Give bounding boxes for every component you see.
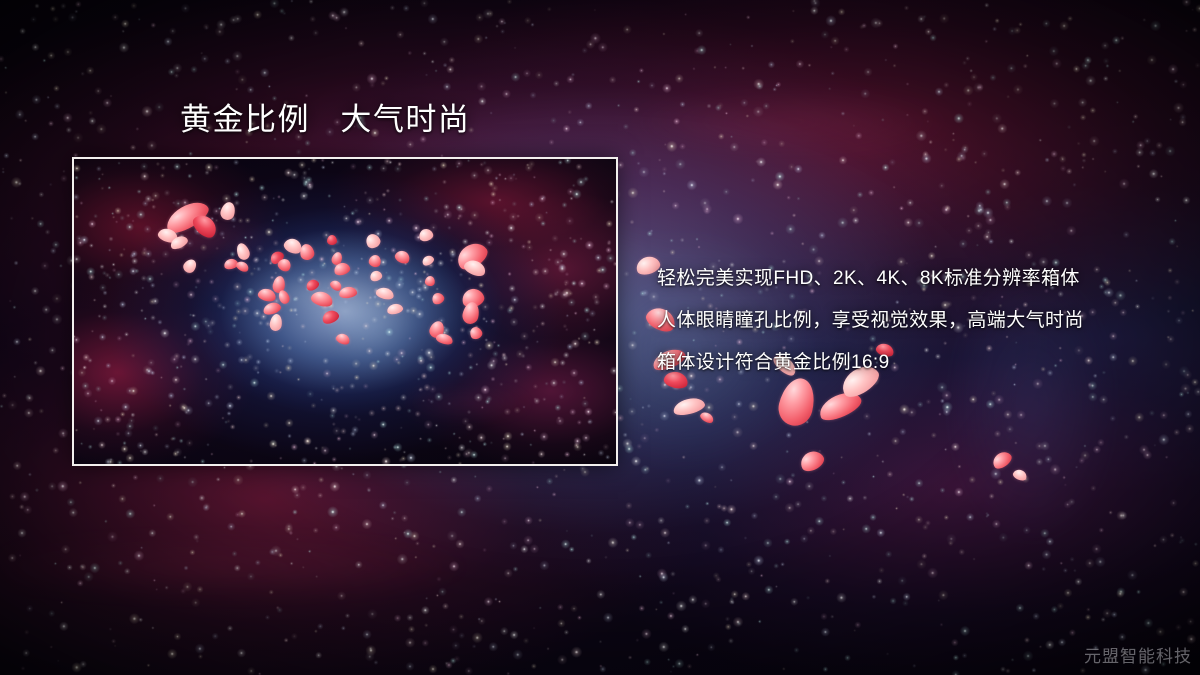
petal [375,286,395,301]
petal [235,259,251,273]
petal [219,200,237,221]
petal [815,387,864,425]
petal [672,395,707,417]
body-copy-line: 箱体设计符合黄金比例16:9 [657,342,1177,384]
petal [234,241,251,261]
body-copy-line: 人体眼睛瞳孔比例，享受视觉效果，高端大气时尚 [657,300,1177,342]
petal [298,243,315,262]
petal [417,227,434,243]
petal [430,291,446,306]
petal [327,235,337,245]
body-copy: 轻松完美实现FHD、2K、4K、8K标准分辨率箱体 人体眼睛瞳孔比例，享受视觉效… [657,258,1177,384]
petal [386,302,404,315]
petal [309,289,334,309]
watermark: 元盟智能科技 [1084,642,1192,667]
slide-title: 黄金比例 大气时尚 [180,101,470,138]
petal [364,232,383,251]
photo-petals [74,159,616,464]
petal [424,275,436,287]
petal [269,313,283,332]
petal [320,308,340,326]
petal [369,269,384,283]
petal [699,410,716,425]
photo-frame [72,157,618,466]
petal [435,332,454,346]
petal [468,325,484,341]
petal [990,448,1014,471]
petal [367,253,382,268]
petal [277,289,292,306]
petal [1012,468,1029,483]
petal [797,447,827,474]
body-copy-line: 轻松完美实现FHD、2K、4K、8K标准分辨率箱体 [657,258,1177,300]
petal [393,248,412,265]
presentation-slide: 黄金比例 大气时尚 轻松完美实现FHD、2K、4K、8K标准分辨率箱体 人体眼睛… [0,0,1200,675]
petal [304,277,320,292]
petal [181,257,199,275]
petal [421,254,436,268]
petal [335,332,352,347]
